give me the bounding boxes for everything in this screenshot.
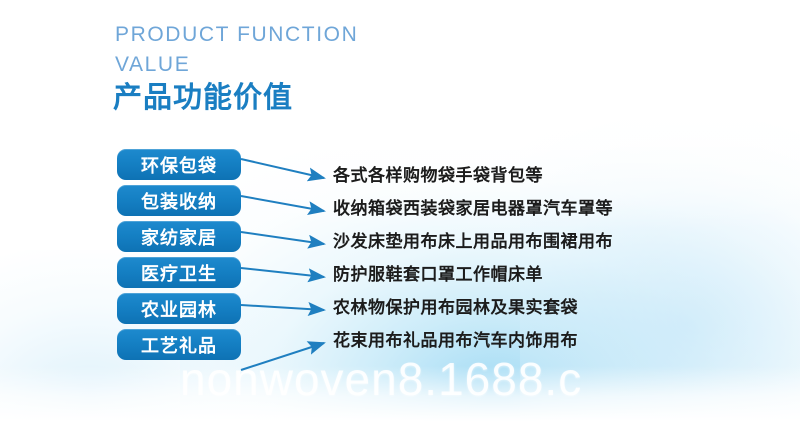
slide-canvas: nonwoven8.1688.c PRODUCT FUNCTION VALUE … [0,0,800,421]
category-button-3[interactable]: 医疗卫生 [117,257,241,288]
watermark-text: nonwoven8.1688.c [180,352,800,406]
description-item-3: 防护服鞋套口罩工作帽床单 [333,259,613,292]
category-button-list: 环保包袋 包装收纳 家纺家居 医疗卫生 农业园林 工艺礼品 [117,149,241,365]
page-title-chinese: 产品功能价值 [113,80,293,114]
category-button-label: 家纺家居 [141,224,217,250]
connector-arrow-4 [241,268,324,277]
category-button-label: 医疗卫生 [141,260,217,286]
description-item-4: 农林物保护用布园林及果实套袋 [333,292,613,325]
page-title-english: PRODUCT FUNCTION VALUE [115,20,395,80]
category-button-1[interactable]: 包装收纳 [117,185,241,216]
connector-arrow-5 [241,305,324,310]
connector-arrow-2 [241,196,324,211]
description-item-1: 收纳箱袋西装袋家居电器罩汽车罩等 [333,193,613,226]
category-button-0[interactable]: 环保包袋 [117,149,241,180]
connector-arrow-1 [241,159,324,178]
category-button-label: 工艺礼品 [141,332,217,358]
category-button-label: 农业园林 [141,296,217,322]
category-button-5[interactable]: 工艺礼品 [117,329,241,360]
connector-arrow-3 [241,232,324,244]
background-bottom-fade [0,366,800,421]
category-button-2[interactable]: 家纺家居 [117,221,241,252]
category-button-label: 环保包袋 [141,152,217,178]
connector-arrow-6 [241,343,324,370]
category-button-4[interactable]: 农业园林 [117,293,241,324]
description-list: 各式各样购物袋手袋背包等 收纳箱袋西装袋家居电器罩汽车罩等 沙发床垫用布床上用品… [333,160,613,358]
description-item-2: 沙发床垫用布床上用品用布围裙用布 [333,226,613,259]
description-item-0: 各式各样购物袋手袋背包等 [333,160,613,193]
category-button-label: 包装收纳 [141,188,217,214]
description-item-5: 花束用布礼品用布汽车内饰用布 [333,325,613,358]
